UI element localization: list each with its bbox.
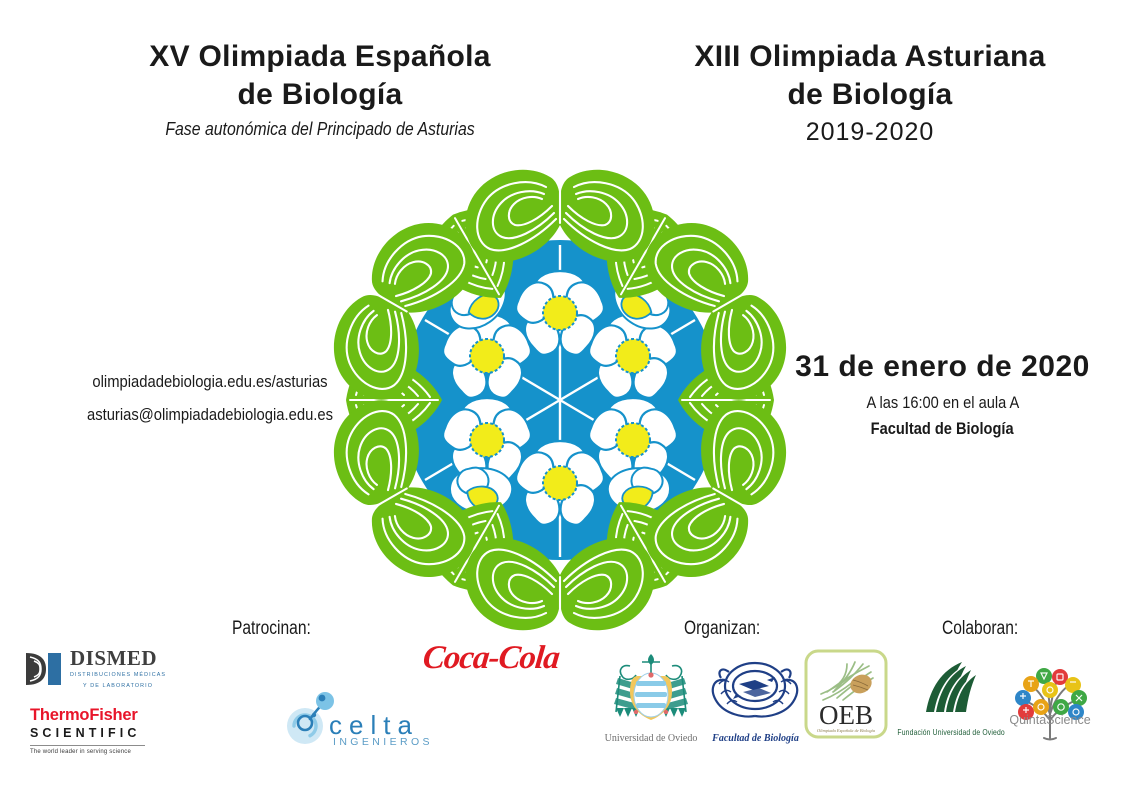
biologia-caption: Facultad de Biología (703, 733, 808, 744)
oeb-name: OEB (819, 700, 873, 730)
logo-thermofisher: ThermoFisher SCIENTIFIC The world leader… (30, 706, 180, 755)
thermofisher-scientific: SCIENTIFIC (30, 726, 180, 740)
title-left-line1: XV Olimpiada Española (60, 38, 580, 76)
logo-facultad-biologia: Facultad de Biología (703, 650, 808, 745)
event-place: Facultad de Biología (770, 419, 1115, 439)
thermofisher-tagline: The world leader in serving science (30, 749, 180, 755)
event-details-block: 31 de enero de 2020 A las 16:00 en el au… (770, 350, 1115, 439)
title-right-line2: de Biología (640, 76, 1100, 114)
event-date: 31 de enero de 2020 (770, 350, 1115, 384)
biologia-emblem-icon (703, 650, 808, 726)
celta-subtitle: INGENIEROS (333, 736, 433, 748)
quintascience-wordmark: QuintaScience (1009, 713, 1090, 727)
dismed-text-block: DISMED DISTRIBUCIONES MÉDICAS Y DE LABOR… (70, 648, 166, 691)
title-right-block: XIII Olimpiada Asturiana de Biología 201… (640, 38, 1100, 147)
logo-celta-ingenieros: celta INGENIEROS (283, 690, 433, 752)
thermo-word: Thermo (30, 706, 89, 724)
fundacion-mark-icon (884, 658, 1006, 722)
caption-colaboran: Colaboran: (942, 618, 1035, 640)
title-right-year: 2019-2020 (640, 118, 1100, 147)
logo-quintascience: QuintaScience (1000, 660, 1100, 745)
dismed-tagline-2: Y DE LABORATORIO (70, 683, 166, 691)
caption-organizan: Organizan: (684, 618, 777, 640)
logo-universidad-oviedo: Universidad de Oviedo (596, 650, 706, 745)
title-left-block: XV Olimpiada Española de Biología Fase a… (60, 38, 580, 140)
logo-dismed: DISMED DISTRIBUCIONES MÉDICAS Y DE LABOR… (22, 645, 187, 693)
dismed-tagline-1: DISTRIBUCIONES MÉDICAS (70, 672, 166, 680)
cocacola-wordmark: Coca-Cola (421, 640, 561, 677)
oeb-badge-icon: OEB Olimpiada Española de Biología (803, 648, 889, 740)
fundacion-caption: Fundación Universidad de Oviedo (884, 727, 1006, 737)
dismed-mark-icon (22, 651, 62, 687)
quintascience-tree-icon: QuintaScience (1000, 660, 1100, 745)
thermofisher-divider (30, 745, 145, 746)
logo-cocacola: Coca-Cola (423, 640, 543, 686)
logo-oeb: OEB Olimpiada Española de Biología (803, 648, 889, 740)
fisher-word: Fisher (89, 706, 137, 724)
title-right-line1: XIII Olimpiada Asturiana (640, 38, 1100, 76)
thermofisher-name: ThermoFisher (30, 706, 180, 725)
title-left-line2: de Biología (60, 76, 580, 114)
flower-mandala-illustration (315, 165, 805, 635)
event-time: A las 16:00 en el aula A (770, 393, 1115, 413)
oeb-subtitle: Olimpiada Española de Biología (817, 728, 876, 733)
dismed-name: DISMED (70, 648, 166, 669)
title-left-subtitle: Fase autonómica del Principado de Asturi… (91, 119, 549, 140)
oviedo-caption: Universidad de Oviedo (596, 733, 706, 744)
logo-fundacion-universidad-oviedo: Fundación Universidad de Oviedo (884, 658, 1006, 743)
caption-patrocinan: Patrocinan: (232, 618, 328, 640)
oviedo-crest-icon (596, 650, 706, 726)
mandala-svg (315, 165, 805, 635)
